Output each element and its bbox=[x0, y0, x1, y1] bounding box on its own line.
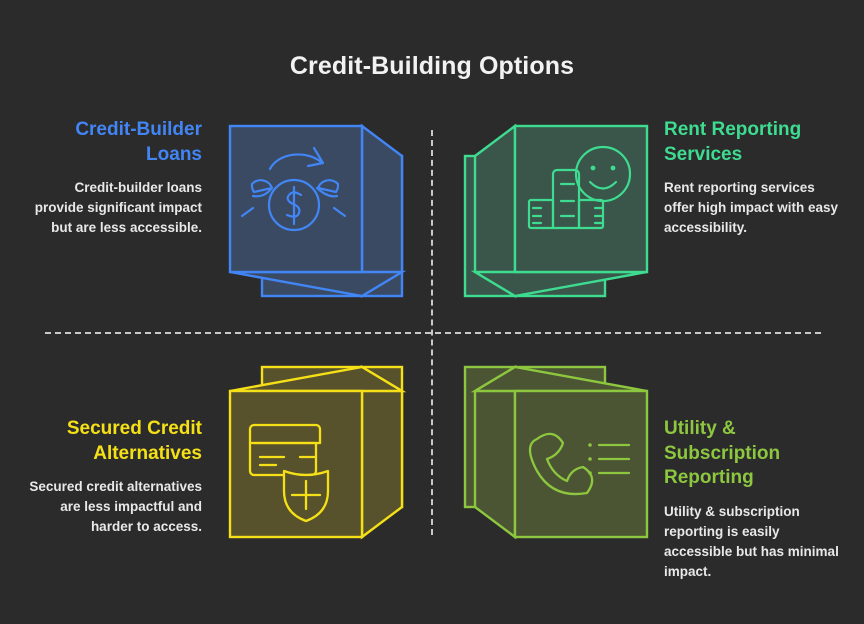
quadrant-text-top-left: Credit-Builder Loans Credit-builder loan… bbox=[22, 118, 202, 238]
phone-list-icon bbox=[457, 355, 657, 555]
quadrant-title-top-right: Rent Reporting Services bbox=[664, 118, 844, 167]
infographic-canvas: Credit-Building Options Credit-Builder L… bbox=[0, 0, 864, 624]
quadrant-title-bottom-left: Secured Credit Alternatives bbox=[22, 417, 202, 466]
illustration-top-right bbox=[457, 112, 657, 312]
quadrant-title-top-left: Credit-Builder Loans bbox=[22, 118, 202, 167]
quadrant-description-bottom-left: Secured credit alternatives are less imp… bbox=[22, 477, 202, 537]
vertical-divider bbox=[431, 130, 433, 535]
illustration-bottom-left bbox=[222, 355, 422, 555]
quadrant-text-bottom-left: Secured Credit Alternatives Secured cred… bbox=[22, 417, 202, 537]
horizontal-divider bbox=[45, 332, 821, 334]
quadrant-description-bottom-right: Utility & subscription reporting is easi… bbox=[664, 502, 844, 582]
card-shield-icon bbox=[222, 355, 422, 555]
page-title: Credit-Building Options bbox=[0, 52, 864, 81]
illustration-bottom-right bbox=[457, 355, 657, 555]
quadrant-description-top-left: Credit-builder loans provide significant… bbox=[22, 178, 202, 238]
quadrant-text-top-right: Rent Reporting Services Rent reporting s… bbox=[664, 118, 844, 238]
quadrant-title-bottom-right: Utility & Subscription Reporting bbox=[664, 417, 844, 491]
building-smiley-icon bbox=[457, 112, 657, 312]
quadrant-text-bottom-right: Utility & Subscription Reporting Utility… bbox=[664, 417, 844, 582]
quadrant-description-top-right: Rent reporting services offer high impac… bbox=[664, 178, 844, 238]
illustration-top-left bbox=[222, 112, 422, 312]
money-refresh-icon bbox=[222, 112, 422, 312]
